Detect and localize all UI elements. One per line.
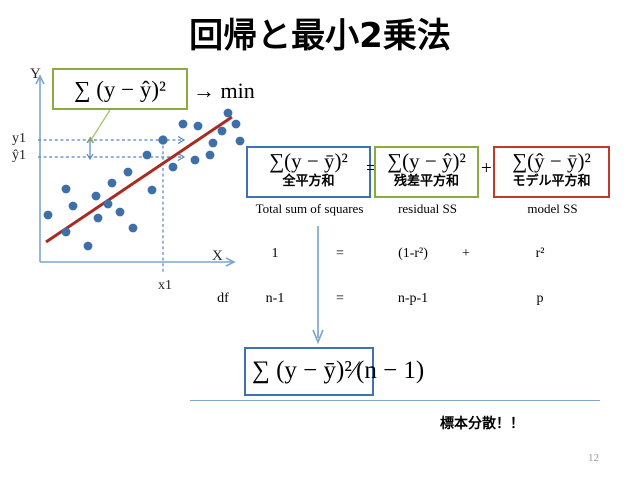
- y-axis-label: Y: [30, 66, 41, 83]
- residual-ss-formula: ∑(y − ŷ)²: [387, 151, 466, 172]
- residual-ss-english-caption: residual SS: [374, 201, 481, 217]
- total-sum-of-squares-box: ∑(y − ȳ)² 全平方和: [246, 146, 371, 198]
- total-ss-formula: ∑(y − ȳ)²: [269, 151, 348, 172]
- minimize-formula: ∑ (y − ŷ)²: [74, 78, 166, 101]
- minimize-arrow-text: → min: [193, 78, 255, 104]
- slide-canvas: 回帰と最小2乗法: [0, 0, 640, 480]
- scatter-point: [104, 200, 113, 209]
- total-ss-japanese-label: 全平方和: [282, 175, 334, 188]
- x-point-label: x1: [158, 278, 172, 294]
- x-axis: [40, 258, 234, 266]
- model-ss-japanese-label: モデル平方和: [512, 175, 590, 188]
- scatter-point: [148, 186, 157, 195]
- scatter-point: [236, 137, 245, 146]
- residual-sum-of-squares-box: ∑(y − ŷ)² 残差平方和: [374, 146, 479, 198]
- scatter-point: [191, 156, 200, 165]
- df-label: df: [205, 291, 241, 307]
- scatter-point: [194, 122, 203, 131]
- page-title: 回帰と最小2乗法: [0, 8, 640, 57]
- residual-indicator: [87, 138, 94, 160]
- horizontal-divider: [190, 400, 600, 401]
- scatter-point: [218, 127, 227, 136]
- scatter-point: [232, 120, 241, 129]
- residual-ss-japanese-label: 残差平方和: [394, 175, 459, 188]
- ratio-plus: +: [446, 246, 486, 262]
- scatter-point: [129, 224, 138, 233]
- total-ss-english-caption: Total sum of squares: [246, 201, 373, 217]
- min-box-leader-line: [91, 110, 110, 140]
- ratio-total: 1: [255, 246, 295, 262]
- y-axis: [36, 76, 44, 262]
- df-model: p: [512, 291, 568, 307]
- scatter-point: [69, 202, 78, 211]
- sample-variance-formula: ∑ (y − ȳ)²⁄(n − 1): [252, 357, 424, 385]
- ratio-model: r²: [510, 246, 570, 262]
- df-residual: n-p-1: [376, 291, 450, 307]
- ratio-residual: (1-r²): [378, 246, 448, 262]
- scatter-point: [209, 139, 218, 148]
- scatter-point: [124, 168, 133, 177]
- downward-arrow: [306, 224, 332, 350]
- regression-line: [46, 117, 232, 242]
- scatter-point: [84, 242, 93, 251]
- scatter-point: [92, 192, 101, 201]
- sample-variance-caption: 標本分散！！: [440, 413, 524, 433]
- scatter-point: [179, 120, 188, 129]
- model-sum-of-squares-box: ∑(ŷ − ȳ)² モデル平方和: [493, 146, 610, 198]
- observed-value-label: y1: [12, 131, 26, 147]
- scatter-point: [143, 151, 152, 160]
- scatter-point: [44, 211, 53, 220]
- page-number: 12: [588, 452, 599, 464]
- scatter-point: [158, 135, 167, 144]
- predicted-value-label: ŷ1: [12, 148, 26, 164]
- x-axis-label: X: [212, 248, 223, 265]
- scatter-point: [116, 208, 125, 217]
- scatter-point: [108, 179, 117, 188]
- df-total: n-1: [255, 291, 295, 307]
- guide-yhat1: [38, 154, 184, 161]
- minimize-formula-box: ∑ (y − ŷ)²: [52, 68, 188, 110]
- scatter-point: [62, 185, 71, 194]
- scatter-point: [224, 109, 233, 118]
- model-ss-english-caption: model SS: [493, 201, 612, 217]
- scatter-point: [206, 151, 215, 160]
- model-ss-formula: ∑(ŷ − ȳ)²: [512, 151, 591, 172]
- plus-operator: +: [481, 158, 492, 180]
- scatter-point: [62, 228, 71, 237]
- scatter-point: [94, 214, 103, 223]
- scatter-point: [169, 163, 178, 172]
